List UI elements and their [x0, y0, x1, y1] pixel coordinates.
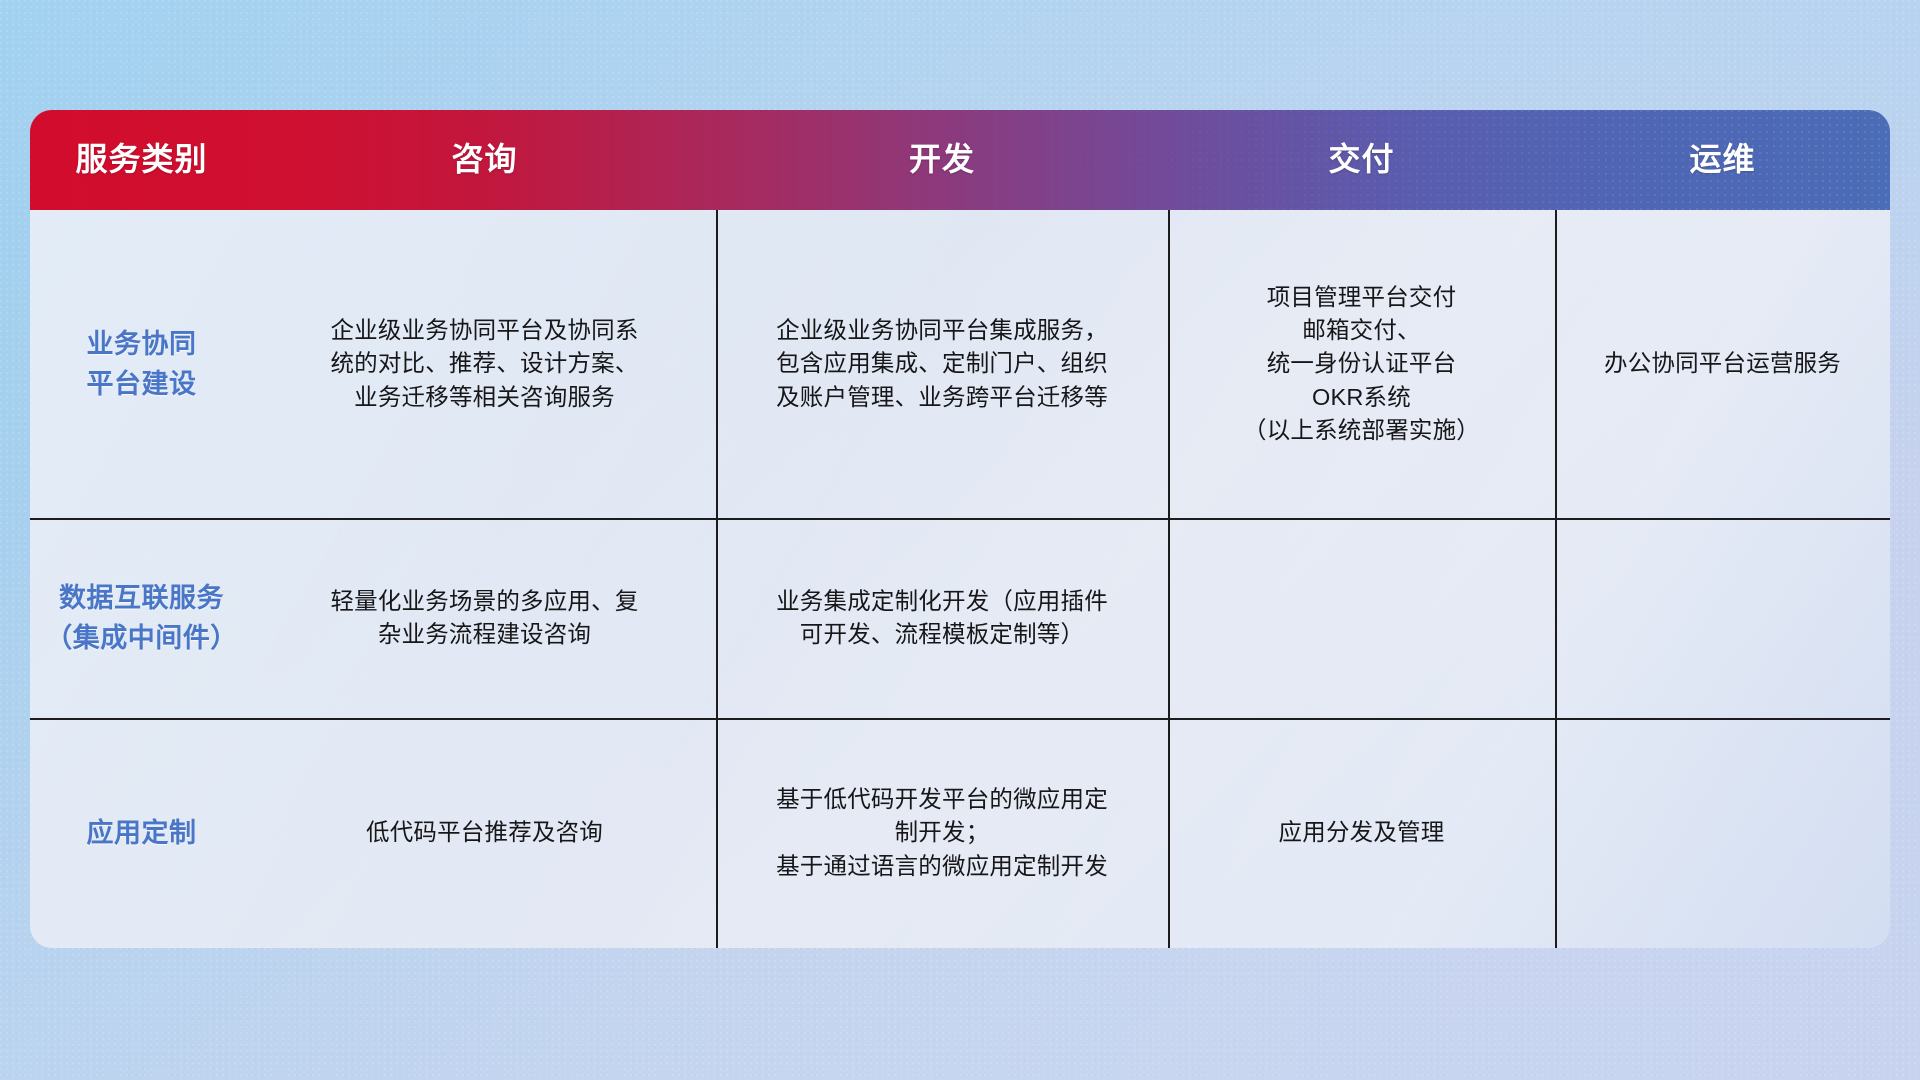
- cell-operations: [1555, 518, 1890, 718]
- column-header-consulting[interactable]: 咨询: [253, 142, 716, 177]
- row-label-text: 应用定制: [87, 813, 197, 854]
- cell-consulting: 低代码平台推荐及咨询: [253, 718, 716, 948]
- table-rows: 业务协同 平台建设 企业级业务协同平台及协同系 统的对比、推荐、设计方案、 业务…: [30, 210, 1890, 948]
- column-header-operations[interactable]: 运维: [1555, 142, 1890, 177]
- cell-operations: 办公协同平台运营服务: [1555, 210, 1890, 518]
- slide-canvas: 服务类别 咨询 开发 交付 运维 业务协同 平台建设 企业级业务协同平台及协同系…: [0, 0, 1920, 1080]
- row-label-text: 业务协同 平台建设: [87, 324, 197, 405]
- row-label-cell: 应用定制: [30, 718, 253, 948]
- column-header-development[interactable]: 开发: [716, 142, 1168, 177]
- cell-development: 基于低代码开发平台的微应用定 制开发； 基于通过语言的微应用定制开发: [716, 718, 1168, 948]
- service-matrix-table: 服务类别 咨询 开发 交付 运维 业务协同 平台建设 企业级业务协同平台及协同系…: [30, 110, 1890, 948]
- table-row: 业务协同 平台建设 企业级业务协同平台及协同系 统的对比、推荐、设计方案、 业务…: [30, 210, 1890, 518]
- table-row: 应用定制 低代码平台推荐及咨询 基于低代码开发平台的微应用定 制开发； 基于通过…: [30, 718, 1890, 948]
- row-label-cell: 业务协同 平台建设: [30, 210, 253, 518]
- cell-text: 项目管理平台交付 邮箱交付、 统一身份认证平台 OKR系统 （以上系统部署实施）: [1243, 281, 1480, 448]
- table-row: 数据互联服务 （集成中间件） 轻量化业务场景的多应用、复 杂业务流程建设咨询 业…: [30, 518, 1890, 718]
- row-divider: [30, 518, 1890, 520]
- cell-text: 企业级业务协同平台及协同系 统的对比、推荐、设计方案、 业务迁移等相关咨询服务: [330, 314, 638, 414]
- row-label-cell: 数据互联服务 （集成中间件）: [30, 518, 253, 718]
- table-body: 业务协同 平台建设 企业级业务协同平台及协同系 统的对比、推荐、设计方案、 业务…: [30, 210, 1890, 948]
- column-header-delivery[interactable]: 交付: [1168, 142, 1555, 177]
- cell-operations: [1555, 718, 1890, 948]
- cell-text: 低代码平台推荐及咨询: [366, 816, 603, 849]
- table-header: 服务类别 咨询 开发 交付 运维: [30, 110, 1890, 210]
- cell-text: 应用分发及管理: [1279, 816, 1445, 849]
- cell-delivery: 项目管理平台交付 邮箱交付、 统一身份认证平台 OKR系统 （以上系统部署实施）: [1168, 210, 1555, 518]
- cell-delivery: [1168, 518, 1555, 718]
- column-divider: [1168, 210, 1170, 948]
- cell-delivery: 应用分发及管理: [1168, 718, 1555, 948]
- cell-development: 业务集成定制化开发（应用插件 可开发、流程模板定制等）: [716, 518, 1168, 718]
- table-header-row: 服务类别 咨询 开发 交付 运维: [30, 110, 1890, 210]
- cell-consulting: 轻量化业务场景的多应用、复 杂业务流程建设咨询: [253, 518, 716, 718]
- cell-text: 企业级业务协同平台集成服务， 包含应用集成、定制门户、组织 及账户管理、业务跨平…: [776, 314, 1108, 414]
- cell-text: 基于低代码开发平台的微应用定 制开发； 基于通过语言的微应用定制开发: [776, 783, 1108, 883]
- cell-text: 业务集成定制化开发（应用插件 可开发、流程模板定制等）: [776, 585, 1108, 652]
- column-header-category[interactable]: 服务类别: [30, 142, 253, 177]
- column-divider: [716, 210, 718, 948]
- cell-consulting: 企业级业务协同平台及协同系 统的对比、推荐、设计方案、 业务迁移等相关咨询服务: [253, 210, 716, 518]
- cell-text: 轻量化业务场景的多应用、复 杂业务流程建设咨询: [330, 585, 638, 652]
- row-divider: [30, 718, 1890, 720]
- column-divider: [1555, 210, 1557, 948]
- cell-development: 企业级业务协同平台集成服务， 包含应用集成、定制门户、组织 及账户管理、业务跨平…: [716, 210, 1168, 518]
- cell-text: 办公协同平台运营服务: [1604, 347, 1841, 380]
- row-label-text: 数据互联服务 （集成中间件）: [45, 578, 238, 659]
